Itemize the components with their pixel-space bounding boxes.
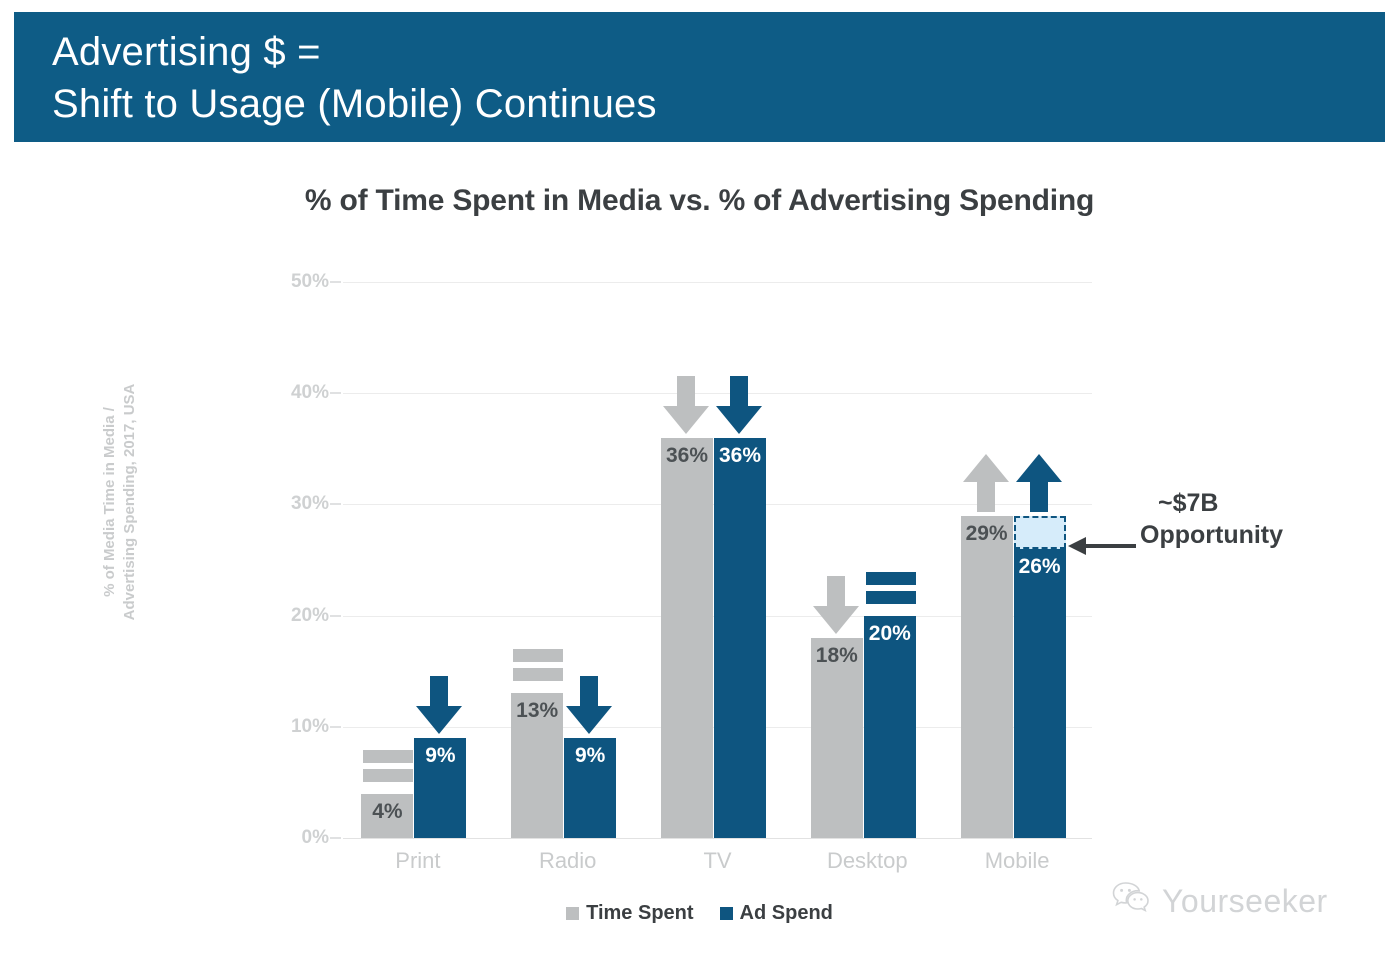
watermark: Yourseeker — [1112, 880, 1328, 922]
equals-indicator-icon — [363, 746, 415, 804]
up-arrow-icon — [1016, 454, 1068, 512]
chart-area: % of Time Spent in Media vs. % of Advert… — [0, 142, 1399, 960]
opportunity-caption: Opportunity — [1140, 519, 1370, 551]
down-arrow-icon — [663, 376, 715, 434]
legend-label-ad-spend: Ad Spend — [740, 902, 833, 925]
header-title-line-2: Shift to Usage (Mobile) Continues — [52, 78, 1385, 130]
bar-value-label: 18% — [811, 644, 863, 668]
y-axis-tick-label: 40% — [259, 382, 329, 404]
bar-tv-ad-spend[interactable]: 36% — [714, 438, 766, 838]
bar-value-label: 26% — [1014, 555, 1066, 579]
bar-value-label: 36% — [714, 444, 766, 468]
wechat-icon — [1112, 880, 1152, 922]
y-axis-tick-label: 30% — [259, 493, 329, 515]
opportunity-box — [1014, 516, 1066, 549]
equals-indicator-icon — [866, 568, 918, 626]
x-axis-label-tv: TV — [638, 848, 798, 874]
bar-value-label: 9% — [414, 744, 466, 768]
header-title-line-1: Advertising $ = — [52, 26, 1385, 78]
watermark-label: Yourseeker — [1162, 883, 1328, 920]
bar-value-label: 9% — [564, 744, 616, 768]
bar-tv-time-spent[interactable]: 36% — [661, 438, 713, 838]
header-banner: Advertising $ = Shift to Usage (Mobile) … — [14, 12, 1385, 142]
x-axis-label-mobile: Mobile — [937, 848, 1097, 874]
down-arrow-icon — [416, 676, 468, 734]
legend-item-time-spent[interactable]: Time Spent — [566, 902, 693, 925]
bar-value-label: 36% — [661, 444, 713, 468]
bar-print-ad-spend[interactable]: 9% — [414, 738, 466, 838]
opportunity-annotation: ~$7B Opportunity — [1140, 487, 1370, 551]
y-axis-tick-mark — [330, 615, 341, 617]
x-axis-label-radio: Radio — [488, 848, 648, 874]
bar-radio-ad-spend[interactable]: 9% — [564, 738, 616, 838]
chart-title: % of Time Spent in Media vs. % of Advert… — [0, 184, 1399, 218]
bar-mobile-ad-spend[interactable]: 26% — [1014, 549, 1066, 838]
y-axis-tick-mark — [330, 392, 341, 394]
legend-label-time-spent: Time Spent — [586, 902, 693, 925]
x-axis-label-desktop: Desktop — [787, 848, 947, 874]
plot-area: 50%40%30%20%10%0%4%9%Print13%9%Radio36%3… — [343, 282, 1092, 838]
bar-value-label: 29% — [961, 522, 1013, 546]
down-arrow-icon — [813, 576, 865, 634]
y-axis-tick-mark — [330, 503, 341, 505]
y-axis-tick-mark — [330, 837, 341, 839]
y-axis-tick-label: 20% — [259, 605, 329, 627]
y-axis-tick-mark — [330, 281, 341, 283]
gridline — [343, 282, 1092, 283]
y-axis-tick-mark — [330, 726, 341, 728]
x-axis-label-print: Print — [338, 848, 498, 874]
y-axis-label: % of Media Time in Media / Advertising S… — [100, 292, 140, 712]
bar-mobile-time-spent[interactable]: 29% — [961, 516, 1013, 838]
bar-desktop-time-spent[interactable]: 18% — [811, 638, 863, 838]
down-arrow-icon — [566, 676, 618, 734]
gridline — [343, 838, 1092, 839]
equals-indicator-icon — [513, 645, 565, 703]
left-arrow-icon — [1068, 536, 1138, 556]
bar-desktop-ad-spend[interactable]: 20% — [864, 616, 916, 838]
bar-radio-time-spent[interactable]: 13% — [511, 693, 563, 838]
legend-swatch-ad-spend-icon — [720, 907, 733, 920]
legend-swatch-time-spent-icon — [566, 907, 579, 920]
down-arrow-icon — [716, 376, 768, 434]
y-axis-tick-label: 50% — [259, 271, 329, 293]
y-axis-tick-label: 0% — [259, 827, 329, 849]
legend-item-ad-spend[interactable]: Ad Spend — [720, 902, 833, 925]
opportunity-amount: ~$7B — [1140, 487, 1370, 519]
up-arrow-icon — [963, 454, 1015, 512]
y-axis-tick-label: 10% — [259, 716, 329, 738]
